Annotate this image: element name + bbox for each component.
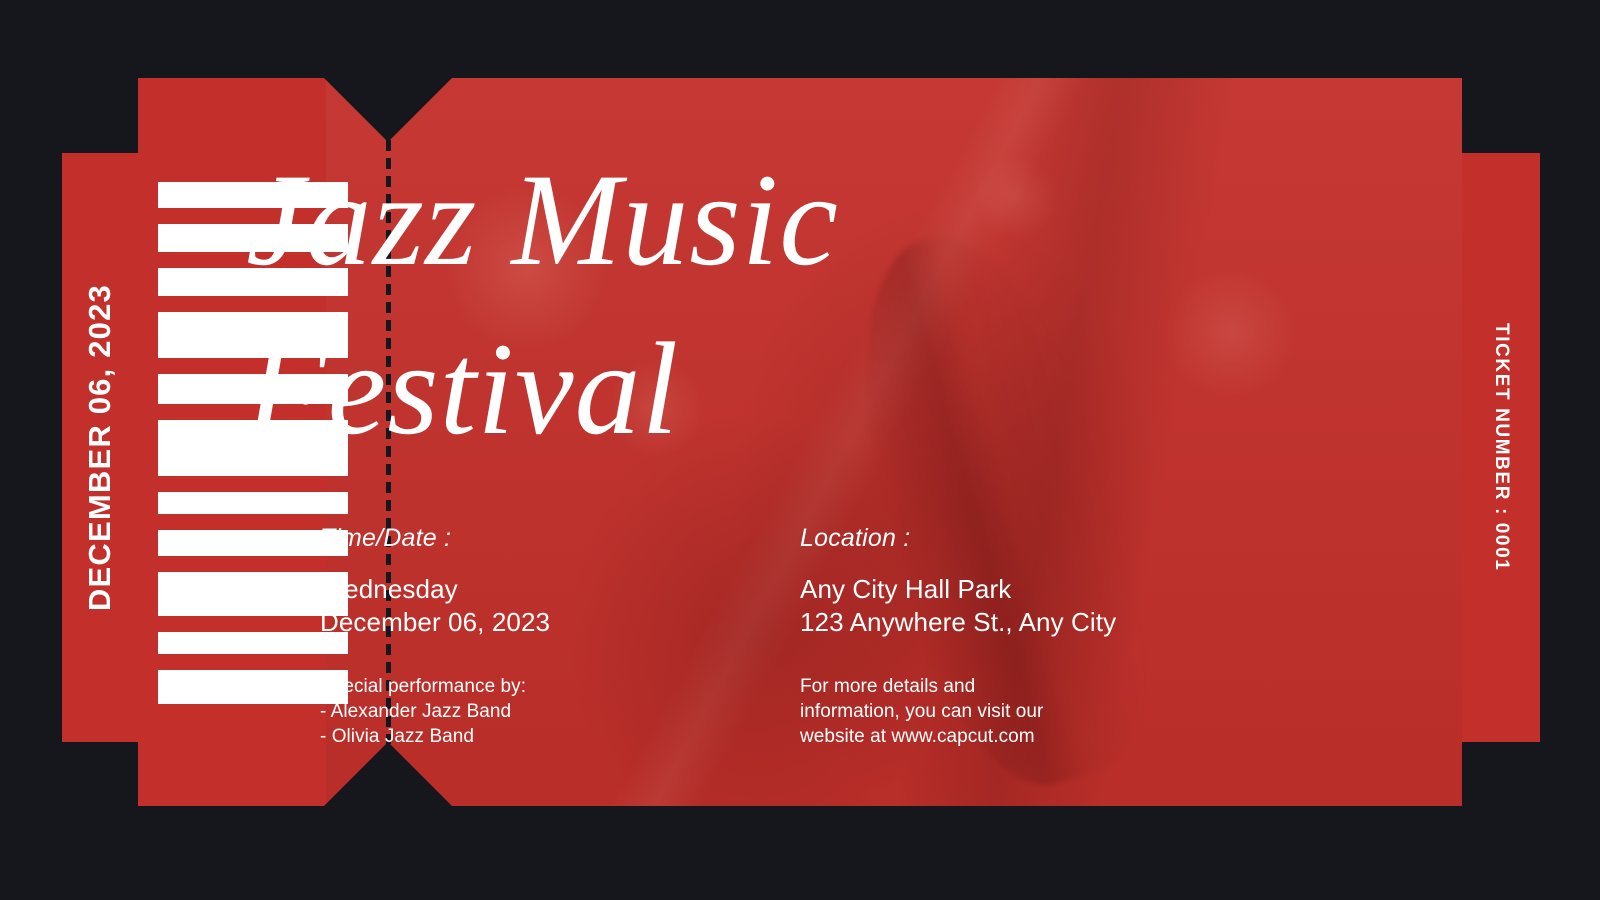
more-details-line-3: website at www.capcut.com	[800, 724, 1150, 749]
location-line-1: Any City Hall Park	[800, 573, 1150, 606]
time-date-line-1: Wednesday	[320, 573, 670, 606]
special-performance-block: Special performance by: - Alexander Jazz…	[320, 674, 670, 749]
more-details-line-1: For more details and	[800, 674, 1150, 699]
event-title-line-1: Jazz Music	[246, 136, 1126, 305]
special-performance-item-1: - Alexander Jazz Band	[320, 699, 670, 724]
event-date-vertical: DECEMBER 06, 2023	[62, 153, 138, 742]
ticket-info-columns: Time/Date : Wednesday December 06, 2023 …	[320, 524, 1150, 749]
time-date-line-2: December 06, 2023	[320, 606, 670, 639]
special-performance-item-2: - Olivia Jazz Band	[320, 724, 670, 749]
location-label: Location :	[800, 524, 1150, 553]
time-date-value: Wednesday December 06, 2023	[320, 573, 670, 640]
more-details-block: For more details and information, you ca…	[800, 674, 1150, 749]
ticket-number-vertical: TICKET NUMBER : 0001	[1462, 153, 1540, 742]
ticket-number-label: TICKET NUMBER : 0001	[1490, 323, 1512, 571]
info-column-location: Location : Any City Hall Park 123 Anywhe…	[800, 524, 1150, 749]
time-date-label: Time/Date :	[320, 524, 670, 553]
info-column-time-date: Time/Date : Wednesday December 06, 2023 …	[320, 524, 670, 749]
location-line-2: 123 Anywhere St., Any City	[800, 606, 1150, 639]
event-title-line-2: Festival	[246, 305, 1126, 474]
canvas: DECEMBER 06, 2023 TICKET NUMBER : 0001 J…	[0, 0, 1600, 900]
barcode-bar	[158, 492, 348, 514]
special-performance-heading: Special performance by:	[320, 674, 670, 699]
event-title: Jazz Music Festival	[246, 136, 1126, 474]
more-details-line-2: information, you can visit our	[800, 699, 1150, 724]
event-date-vertical-label: DECEMBER 06, 2023	[82, 284, 118, 611]
location-value: Any City Hall Park 123 Anywhere St., Any…	[800, 573, 1150, 640]
ticket-card[interactable]: DECEMBER 06, 2023 TICKET NUMBER : 0001 J…	[62, 78, 1540, 806]
